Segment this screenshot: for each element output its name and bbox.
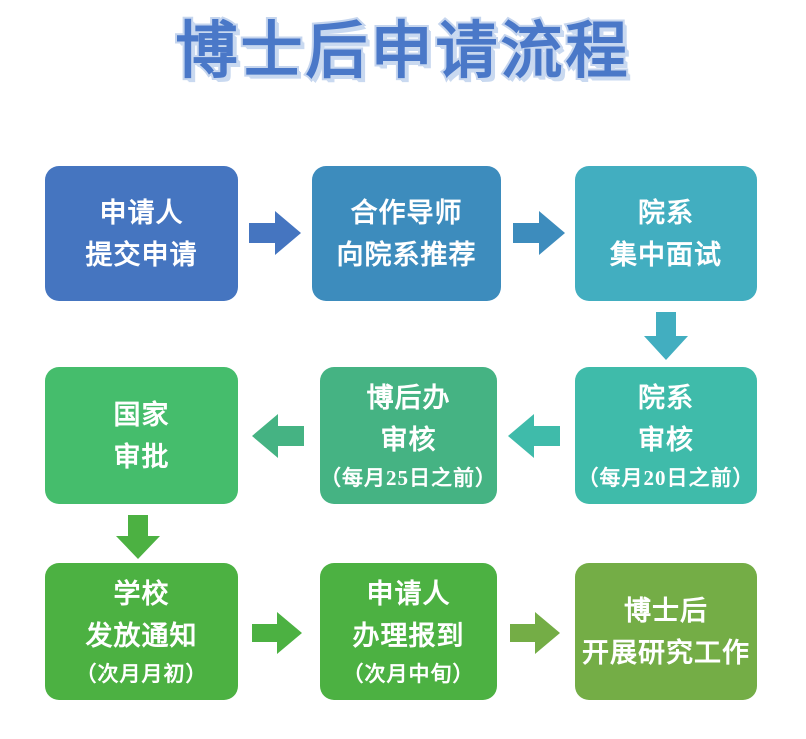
node-line-1: 院系 [638, 377, 694, 419]
arrow-down-icon-2 [113, 515, 163, 559]
node-note: （每月20日之前） [578, 461, 755, 495]
flow-node-advisor-recommend: 合作导师 向院系推荐 [312, 166, 501, 301]
node-line-2: 审批 [114, 436, 170, 478]
node-line-2: 集中面试 [610, 234, 722, 276]
node-line-1: 博士后 [624, 590, 708, 632]
arrow-right-icon-4 [510, 608, 560, 658]
node-note: （次月中旬） [343, 657, 475, 691]
arrow-right-icon-2 [513, 207, 565, 259]
node-line-1: 博后办 [367, 377, 451, 419]
node-line-2: 向院系推荐 [337, 234, 477, 276]
flow-node-national-approval: 国家 审批 [45, 367, 238, 504]
arrow-right-icon-1 [249, 207, 301, 259]
node-line-2: 审核 [381, 419, 437, 461]
node-note: （次月月初） [76, 657, 208, 691]
flow-node-applicant-submit: 申请人 提交申请 [45, 166, 238, 301]
flow-node-department-interview: 院系 集中面试 [575, 166, 757, 301]
node-line-1: 申请人 [100, 192, 184, 234]
node-line-1: 院系 [638, 192, 694, 234]
node-line-2: 办理报到 [353, 615, 465, 657]
node-line-2: 提交申请 [86, 234, 198, 276]
node-line-1: 申请人 [367, 573, 451, 615]
node-line-2: 审核 [638, 419, 694, 461]
flow-node-postdoc-research: 博士后 开展研究工作 [575, 563, 757, 700]
page-title: 博士后申请流程 [175, 14, 630, 88]
node-note: （每月25日之前） [320, 461, 497, 495]
node-line-1: 合作导师 [351, 192, 463, 234]
flow-node-department-review: 院系 审核 （每月20日之前） [575, 367, 757, 504]
arrow-left-icon-2 [249, 410, 304, 462]
flow-node-applicant-report: 申请人 办理报到 （次月中旬） [320, 563, 497, 700]
flow-node-postdoc-office-review: 博后办 审核 （每月25日之前） [320, 367, 497, 504]
arrow-down-icon-1 [641, 312, 691, 360]
arrow-right-icon-3 [252, 608, 302, 658]
node-line-1: 国家 [114, 394, 170, 436]
node-line-1: 学校 [114, 573, 170, 615]
node-line-2: 开展研究工作 [582, 632, 750, 674]
flow-node-school-notice: 学校 发放通知 （次月月初） [45, 563, 238, 700]
page-title-container: 博士后申请流程 [0, 14, 806, 88]
node-line-2: 发放通知 [86, 615, 198, 657]
arrow-left-icon-1 [505, 410, 560, 462]
